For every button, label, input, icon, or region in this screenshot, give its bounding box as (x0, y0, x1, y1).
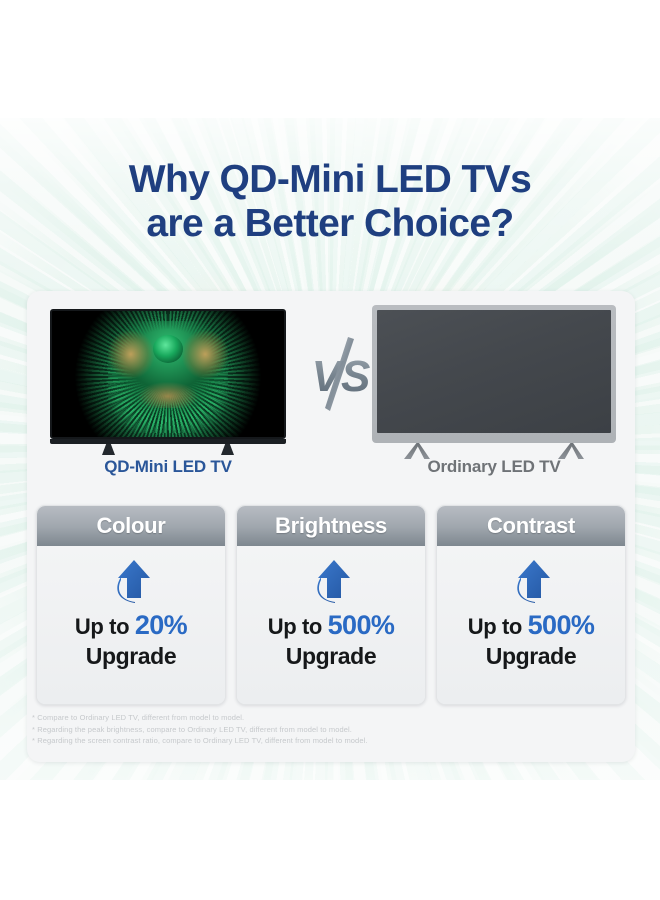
metric-card-brightness-header: Brightness (237, 506, 425, 546)
headline-line-1: Why QD-Mini LED TVs (0, 158, 660, 202)
metric-card-colour-prefix: Up to (75, 614, 135, 639)
metric-card-brightness-text: Up to 500% Upgrade (268, 612, 395, 670)
qd-mini-tv-illustration (50, 309, 286, 455)
ordinary-tv-bezel (372, 305, 616, 443)
ordinary-tv-cell: Ordinary LED TV (370, 299, 618, 489)
metric-card-colour-header: Colour (37, 506, 225, 546)
footnotes: * Compare to Ordinary LED TV, different … (27, 712, 635, 747)
ordinary-tv-screen (377, 310, 611, 433)
footnote-1: * Compare to Ordinary LED TV, different … (32, 712, 635, 724)
metric-card-colour-body: Up to 20% Upgrade (37, 546, 225, 704)
metric-card-colour-text: Up to 20% Upgrade (75, 612, 187, 670)
metric-card-contrast-title: Contrast (487, 513, 575, 539)
metric-card-contrast-prefix: Up to (468, 614, 528, 639)
ordinary-tv-label: Ordinary LED TV (370, 457, 618, 477)
metric-card-brightness: Brightness (236, 505, 426, 705)
tv-comparison-row: QD-Mini LED TV (27, 299, 635, 489)
metric-card-colour-value: 20% (135, 610, 187, 640)
metric-card-contrast: Contrast (436, 505, 626, 705)
metric-card-brightness-prefix: Up to (268, 614, 328, 639)
metric-card-brightness-value: 500% (328, 610, 395, 640)
metric-card-contrast-header: Contrast (437, 506, 625, 546)
qd-mini-tv-cell: QD-Mini LED TV (44, 299, 292, 489)
up-arrow-icon (310, 558, 352, 604)
qd-mini-tv-foot-right (221, 444, 234, 455)
ordinary-tv-illustration (372, 305, 616, 459)
metric-card-contrast-text: Up to 500% Upgrade (468, 612, 595, 670)
page-title: Why QD-Mini LED TVs are a Better Choice? (0, 158, 660, 246)
qd-mini-tv-screen (50, 309, 286, 439)
metric-card-contrast-body: Up to 500% Upgrade (437, 546, 625, 704)
qd-mini-tv-label: QD-Mini LED TV (44, 457, 292, 477)
metric-card-brightness-body: Up to 500% Upgrade (237, 546, 425, 704)
qd-mini-screen-center-gem (153, 335, 183, 363)
metric-card-contrast-line1: Up to 500% (468, 612, 595, 643)
metric-card-colour-suffix: Upgrade (75, 643, 187, 670)
metric-cards-row: Colour (36, 505, 626, 705)
up-arrow-icon (110, 558, 152, 604)
metric-card-colour-title: Colour (96, 513, 165, 539)
up-arrow-icon (510, 558, 552, 604)
footnote-2: * Regarding the peak brightness, compare… (32, 724, 635, 736)
headline-line-2: are a Better Choice? (0, 202, 660, 246)
comparison-panel: QD-Mini LED TV (27, 291, 635, 762)
metric-card-brightness-title: Brightness (275, 513, 387, 539)
metric-card-brightness-line1: Up to 500% (268, 612, 395, 643)
vs-badge: VS (308, 337, 374, 411)
metric-card-contrast-value: 500% (528, 610, 595, 640)
qd-mini-tv-foot-left (102, 444, 115, 455)
metric-card-contrast-suffix: Upgrade (468, 643, 595, 670)
metric-card-colour-line1: Up to 20% (75, 612, 187, 643)
poster-canvas: Why QD-Mini LED TVs are a Better Choice? (0, 0, 660, 900)
metric-card-colour: Colour (36, 505, 226, 705)
qd-mini-tv-feet (50, 444, 286, 455)
footnote-3: * Regarding the screen contrast ratio, c… (32, 735, 635, 747)
metric-card-brightness-suffix: Upgrade (268, 643, 395, 670)
